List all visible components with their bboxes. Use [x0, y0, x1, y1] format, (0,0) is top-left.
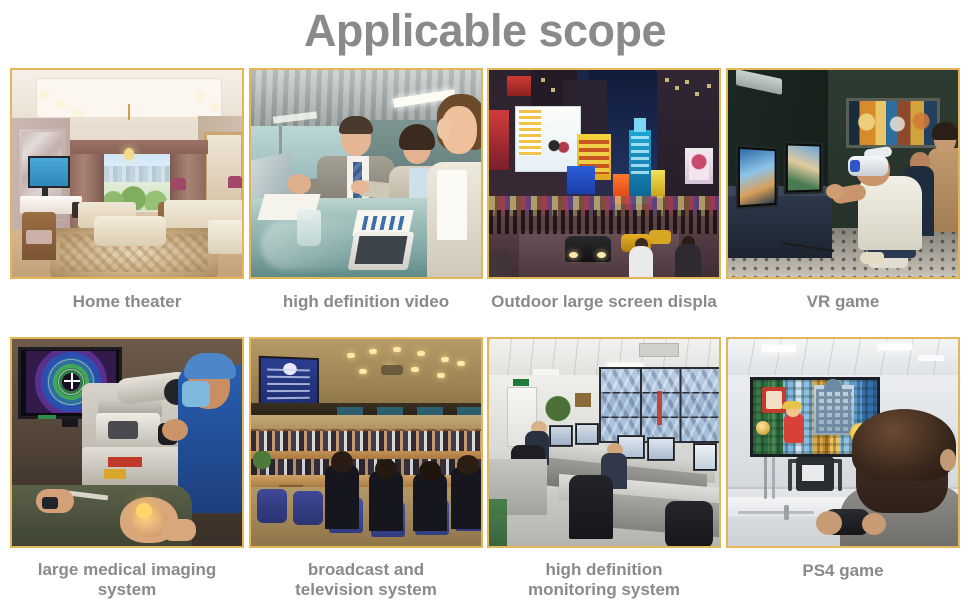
- scope-cell-ps4-game[interactable]: PS4 game: [726, 337, 960, 581]
- scope-cell-broadcast[interactable]: broadcast and television system: [249, 337, 483, 600]
- vr-game-photo: @DIVG: [726, 68, 960, 279]
- caption-line-1: high definition: [487, 560, 721, 580]
- caption-line-1: broadcast and: [249, 560, 483, 580]
- scope-caption: VR game: [726, 291, 960, 312]
- outdoor-screen-photo: [487, 68, 721, 279]
- scope-caption: Outdoor large screen displa: [487, 291, 721, 312]
- scope-cell-outdoor-screen[interactable]: Outdoor large screen displa: [487, 68, 721, 312]
- scope-grid: Home theater: [0, 68, 970, 348]
- scope-cell-vr-game[interactable]: @DIVG VR game: [726, 68, 960, 312]
- monitoring-photo: [487, 337, 721, 548]
- caption-line-2: system: [10, 580, 244, 600]
- caption-line-2: monitoring system: [487, 580, 721, 600]
- caption-line-1: large medical imaging: [10, 560, 244, 580]
- scope-caption: high definition monitoring system: [487, 560, 721, 600]
- ps4-game-photo: [726, 337, 960, 548]
- scope-cell-home-theater[interactable]: Home theater: [10, 68, 244, 312]
- scope-caption: large medical imaging system: [10, 560, 244, 600]
- caption-line-2: television system: [249, 580, 483, 600]
- hd-video-photo: [249, 68, 483, 279]
- scope-cell-medical-imaging[interactable]: large medical imaging system: [10, 337, 244, 600]
- scope-row-1: Home theater: [0, 68, 970, 348]
- applicable-scope-page: Applicable scope: [0, 0, 970, 600]
- scope-row-2: large medical imaging system: [0, 337, 970, 600]
- broadcast-photo: [249, 337, 483, 548]
- medical-imaging-photo: [10, 337, 244, 548]
- home-theater-photo: [10, 68, 244, 279]
- scope-cell-hd-video[interactable]: high definition video: [249, 68, 483, 312]
- scope-caption: PS4 game: [726, 560, 960, 581]
- page-title: Applicable scope: [0, 2, 970, 60]
- scope-caption: broadcast and television system: [249, 560, 483, 600]
- scope-cell-monitoring[interactable]: high definition monitoring system: [487, 337, 721, 600]
- scope-caption: Home theater: [10, 291, 244, 312]
- watermark-text: @DIVG: [878, 262, 948, 274]
- scope-caption: high definition video: [249, 291, 483, 312]
